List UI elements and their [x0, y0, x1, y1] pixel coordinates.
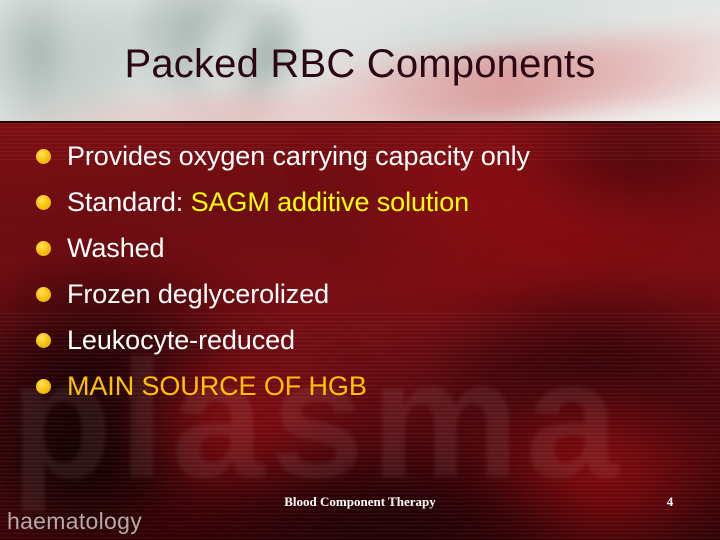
bullet-label: MAIN SOURCE OF HGB — [67, 371, 367, 401]
bullet-dot-icon — [36, 149, 51, 164]
bullet-label: Frozen deglycerolized — [67, 279, 329, 309]
list-item-leukocyte-reduced[interactable]: Leukocyte-reduced — [36, 317, 696, 363]
brand-watermark: haematology — [7, 508, 142, 534]
bullet-label: Provides oxygen carrying capacity only — [67, 141, 530, 171]
header-pink-band-lower — [0, 85, 421, 123]
slide-title: Packed RBC Components — [0, 0, 720, 88]
list-item-main-source-hgb[interactable]: MAIN SOURCE OF HGB — [36, 363, 696, 409]
bullet-label-highlight: SAGM additive solution — [191, 187, 469, 217]
bullet-dot-icon — [36, 195, 51, 210]
bullet-label: Leukocyte-reduced — [67, 325, 295, 355]
bullet-label-lead: Standard: — [67, 187, 191, 217]
bullet-dot-icon — [36, 333, 51, 348]
slide-body: plasma Provides oxygen carrying capacity… — [0, 123, 720, 540]
bullet-dot-icon — [36, 287, 51, 302]
list-item-washed[interactable]: Washed — [36, 225, 696, 271]
footer-page-number: 4 — [640, 494, 700, 510]
bullet-dot-icon — [36, 379, 51, 394]
list-item-frozen-deglycerolized[interactable]: Frozen deglycerolized — [36, 271, 696, 317]
bullet-label: Washed — [67, 233, 164, 263]
slide-header: Packed RBC Components — [0, 0, 720, 123]
list-item-provides-oxygen[interactable]: Provides oxygen carrying capacity only — [36, 133, 696, 179]
bullet-label: Standard: SAGM additive solution — [67, 187, 469, 217]
presentation-slide: Packed RBC Components plasma Provides ox… — [0, 0, 720, 540]
bullet-dot-icon — [36, 241, 51, 256]
list-item-standard-sagm[interactable]: Standard: SAGM additive solution — [36, 179, 696, 225]
